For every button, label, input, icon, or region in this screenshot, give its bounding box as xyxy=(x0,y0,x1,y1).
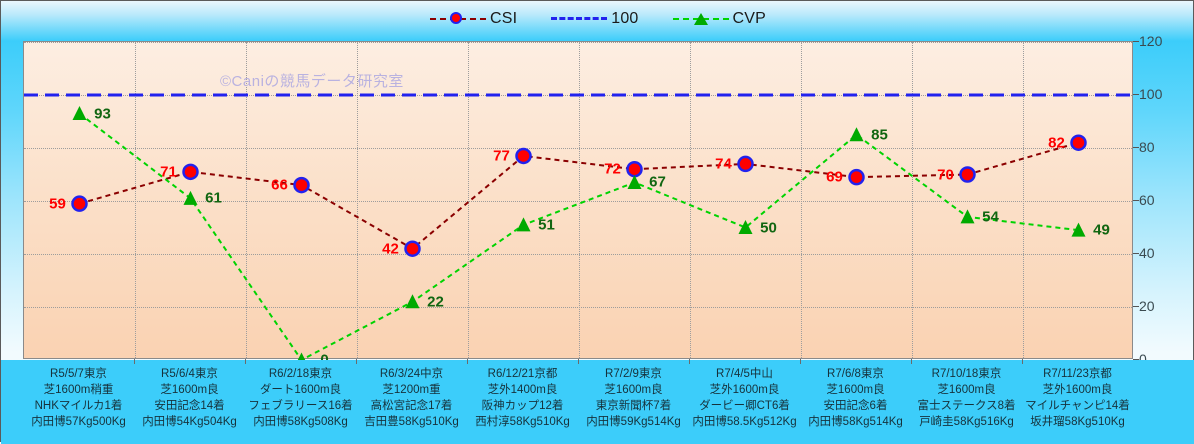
x-axis-category-line: R7/11/23京都 xyxy=(1022,366,1133,382)
legend-label-csi: CSI xyxy=(490,10,517,28)
value-label-CSI: 74 xyxy=(715,155,732,172)
x-axis-category-label: R5/5/7東京芝1600m稍重NHKマイルカ1着内田博57Kg500Kg xyxy=(23,366,134,441)
data-point-CSI[interactable] xyxy=(406,242,420,256)
value-label-CVP: 85 xyxy=(871,126,888,143)
x-axis-category-line: R6/3/24中京 xyxy=(356,366,467,382)
x-axis-tick-mark xyxy=(467,359,468,364)
x-axis-category-line: マイルチャンピ14着 xyxy=(1022,398,1133,414)
value-label-CSI: 71 xyxy=(160,163,177,180)
x-axis-category-line: 内田博59Kg514Kg xyxy=(578,414,689,430)
y-axis-tick-label: 20 xyxy=(1139,298,1155,314)
x-axis-tick-mark xyxy=(911,359,912,364)
x-axis-tick-mark xyxy=(689,359,690,364)
y-axis-tick-mark xyxy=(1133,147,1139,148)
value-label-CSI: 72 xyxy=(604,161,621,178)
x-axis-category-line: R7/4/5中山 xyxy=(689,366,800,382)
x-axis-category-label: R7/6/8東京芝1600m良安田記念6着内田博58Kg514Kg xyxy=(800,366,911,441)
data-point-CVP[interactable] xyxy=(73,106,87,120)
data-point-CSI[interactable] xyxy=(517,149,531,163)
value-label-CVP: 67 xyxy=(649,174,666,191)
chart-lines-svg xyxy=(24,42,1134,360)
value-label-CVP: 51 xyxy=(538,216,555,233)
x-axis-tick-mark xyxy=(134,359,135,364)
x-axis-category-line: 芝1200m重 xyxy=(356,382,467,398)
series-line-CSI xyxy=(80,143,1079,249)
value-label-CVP: 49 xyxy=(1093,222,1110,239)
x-axis-category-line: 内田博54Kg504Kg xyxy=(134,414,245,430)
x-axis-category-line: フェブラリース16着 xyxy=(245,398,356,414)
y-axis-tick-label: 40 xyxy=(1139,245,1155,261)
legend-item-csi[interactable]: CSI xyxy=(430,10,517,28)
x-axis-category-line: R5/5/7東京 xyxy=(23,366,134,382)
x-axis-category-line: 吉田豊58Kg510Kg xyxy=(356,414,467,430)
value-label-CSI: 59 xyxy=(49,195,66,212)
value-label-CSI: 69 xyxy=(826,169,843,186)
y-axis-tick-label: 60 xyxy=(1139,192,1155,208)
value-label-CSI: 70 xyxy=(937,166,954,183)
data-point-CVP[interactable] xyxy=(850,127,864,141)
x-axis-category-line: ダービー卿CT6着 xyxy=(689,398,800,414)
data-point-CSI[interactable] xyxy=(184,165,198,179)
x-axis-category-line: 芝1600m稍重 xyxy=(23,382,134,398)
data-point-CVP[interactable] xyxy=(739,220,753,234)
data-point-CSI[interactable] xyxy=(961,168,975,182)
x-axis-category-line: ダート1600m良 xyxy=(245,382,356,398)
series-line-CVP xyxy=(80,114,1079,360)
x-axis-category-line: R7/10/18東京 xyxy=(911,366,1022,382)
value-label-CVP: 22 xyxy=(427,293,444,310)
data-point-CSI[interactable] xyxy=(850,170,864,184)
x-axis-labels: R5/5/7東京芝1600m稍重NHKマイルカ1着内田博57Kg500KgR5/… xyxy=(23,366,1133,441)
x-axis-category-label: R7/2/9東京芝1600m良東京新聞杯7着内田博59Kg514Kg xyxy=(578,366,689,441)
value-label-CSI: 66 xyxy=(271,177,288,194)
data-point-CVP[interactable] xyxy=(406,294,420,308)
legend-label-cvp: CVP xyxy=(733,10,767,28)
y-axis-tick-mark xyxy=(1133,253,1139,254)
y-axis-tick-label: 100 xyxy=(1139,86,1162,102)
x-axis-category-line: 芝1600m良 xyxy=(911,382,1022,398)
x-axis-category-line: 芝1600m良 xyxy=(578,382,689,398)
chart-screenshot: CSI 100 CVP ©Caniの競馬データ研究室 5971664277727… xyxy=(0,0,1194,442)
y-axis-tick-mark xyxy=(1133,94,1139,95)
x-axis-category-line: 坂井瑠58Kg510Kg xyxy=(1022,414,1133,430)
x-axis-category-line: 内田博57Kg500Kg xyxy=(23,414,134,430)
x-axis-tick-mark xyxy=(800,359,801,364)
value-label-CSI: 42 xyxy=(382,240,399,257)
chart-legend: CSI 100 CVP xyxy=(1,5,1194,33)
legend-item-cvp[interactable]: CVP xyxy=(673,10,767,28)
green-triangle-marker-icon xyxy=(673,11,729,27)
x-axis-category-line: 安田記念6着 xyxy=(800,398,911,414)
x-axis-category-line: 芝外1600m良 xyxy=(1022,382,1133,398)
value-label-CVP: 50 xyxy=(760,219,777,236)
x-axis-category-label: R6/2/18東京ダート1600m良フェブラリース16着内田博58Kg508Kg xyxy=(245,366,356,441)
y-axis-tick-mark xyxy=(1133,306,1139,307)
x-axis-category-line: NHKマイルカ1着 xyxy=(23,398,134,414)
y-axis-tick-mark xyxy=(1133,200,1139,201)
data-point-CVP[interactable] xyxy=(961,209,975,223)
x-axis-category-line: 富士ステークス8着 xyxy=(911,398,1022,414)
x-axis-category-line: R7/6/8東京 xyxy=(800,366,911,382)
data-point-CVP[interactable] xyxy=(517,217,531,231)
x-axis-category-line: 阪神カップ12着 xyxy=(467,398,578,414)
x-axis-category-line: 東京新聞杯7着 xyxy=(578,398,689,414)
value-label-CVP: 93 xyxy=(94,105,111,122)
y-axis: 020406080100120 xyxy=(1139,41,1189,359)
x-axis-category-line: R7/2/9東京 xyxy=(578,366,689,382)
legend-label-100: 100 xyxy=(611,10,638,28)
value-label-CVP: 61 xyxy=(205,190,222,207)
x-axis-tick-mark xyxy=(245,359,246,364)
plot-area: ©Caniの競馬データ研究室 5971664277727469708293610… xyxy=(23,41,1133,359)
x-axis-category-line: 西村淳58Kg510Kg xyxy=(467,414,578,430)
data-point-CSI[interactable] xyxy=(739,157,753,171)
x-axis-category-line: 内田博58Kg508Kg xyxy=(245,414,356,430)
x-axis-category-label: R5/6/4東京芝1600m良安田記念14着内田博54Kg504Kg xyxy=(134,366,245,441)
x-axis-tick-mark xyxy=(1022,359,1023,364)
data-point-CSI[interactable] xyxy=(1072,136,1086,150)
red-circle-marker-icon xyxy=(430,11,486,27)
x-axis-category-line: 内田博58.5Kg512Kg xyxy=(689,414,800,430)
x-axis-category-line: R5/6/4東京 xyxy=(134,366,245,382)
x-axis-category-line: 戸崎圭58Kg516Kg xyxy=(911,414,1022,430)
data-point-CSI[interactable] xyxy=(73,197,87,211)
y-axis-tick-label: 80 xyxy=(1139,139,1155,155)
x-axis-category-label: R6/12/21京都芝外1400m良阪神カップ12着西村淳58Kg510Kg xyxy=(467,366,578,441)
value-label-CSI: 82 xyxy=(1048,134,1065,151)
x-axis-category-line: 高松宮記念17着 xyxy=(356,398,467,414)
data-point-CSI[interactable] xyxy=(295,178,309,192)
x-axis-category-label: R7/11/23京都芝外1600m良マイルチャンピ14着坂井瑠58Kg510Kg xyxy=(1022,366,1133,441)
x-axis-category-line: 芝1600m良 xyxy=(800,382,911,398)
x-axis-category-line: 芝外1600m良 xyxy=(689,382,800,398)
blue-dashed-line-icon xyxy=(551,11,607,27)
x-axis-category-label: R7/4/5中山芝外1600m良ダービー卿CT6着内田博58.5Kg512Kg xyxy=(689,366,800,441)
x-axis-category-label: R6/3/24中京芝1200m重高松宮記念17着吉田豊58Kg510Kg xyxy=(356,366,467,441)
x-axis-category-line: 安田記念14着 xyxy=(134,398,245,414)
plot-inner: ©Caniの競馬データ研究室 5971664277727469708293610… xyxy=(24,42,1132,358)
x-axis-tick-mark xyxy=(356,359,357,364)
y-axis-tick-mark xyxy=(1133,41,1139,42)
x-axis-category-line: 内田博58Kg514Kg xyxy=(800,414,911,430)
y-axis-tick-label: 120 xyxy=(1139,33,1162,49)
x-axis-category-line: R6/2/18東京 xyxy=(245,366,356,382)
x-axis-category-line: 芝外1400m良 xyxy=(467,382,578,398)
x-axis-category-label: R7/10/18東京芝1600m良富士ステークス8着戸崎圭58Kg516Kg xyxy=(911,366,1022,441)
x-axis-category-line: 芝1600m良 xyxy=(134,382,245,398)
data-point-CSI[interactable] xyxy=(628,162,642,176)
value-label-CVP: 54 xyxy=(982,208,999,225)
legend-item-100[interactable]: 100 xyxy=(551,10,638,28)
x-axis-category-line: R6/12/21京都 xyxy=(467,366,578,382)
data-point-CVP[interactable] xyxy=(628,175,642,189)
x-axis-tick-mark xyxy=(578,359,579,364)
data-point-CVP[interactable] xyxy=(184,191,198,205)
value-label-CSI: 77 xyxy=(493,147,510,164)
